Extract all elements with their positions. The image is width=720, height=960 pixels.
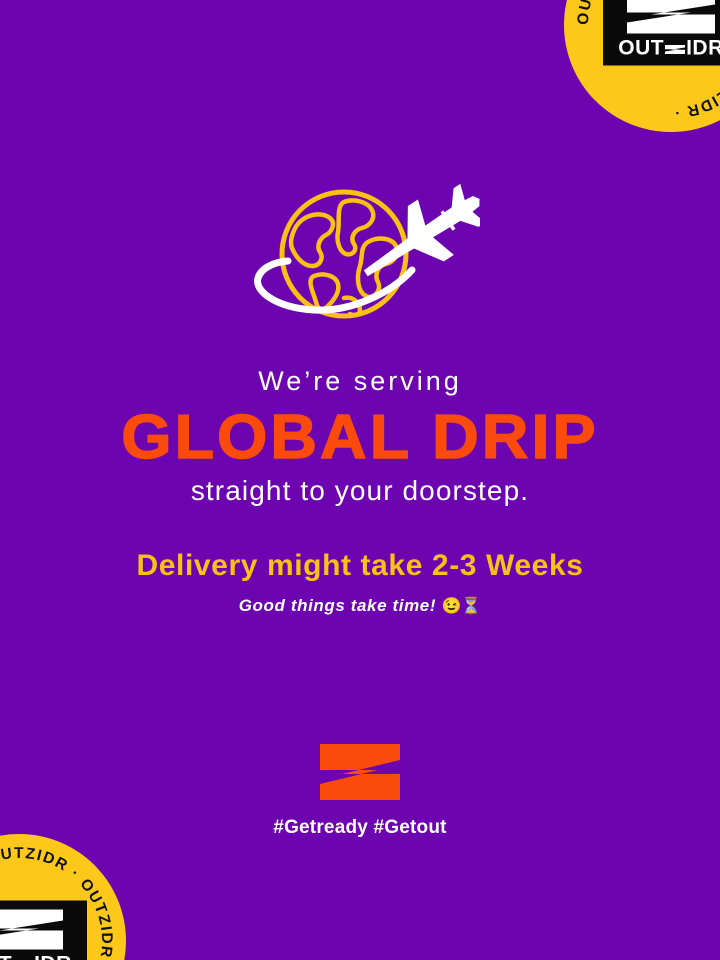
wink-hourglass-emoji: 😉⏳ xyxy=(441,598,481,615)
seal-wordmark-after: IDR xyxy=(34,954,72,960)
hero-artwork xyxy=(0,178,720,338)
headline-block: We’re serving GLOBAL DRIP straight to yo… xyxy=(0,366,720,507)
globe-with-airplane-icon xyxy=(240,178,480,338)
seal-wordmark-top-right: OUT IDR xyxy=(618,38,720,59)
headline-eyebrow: We’re serving xyxy=(0,366,720,397)
delivery-time-text: Delivery might take 2-3 Weeks xyxy=(0,548,720,584)
seal-wordmark-before: OUT xyxy=(618,38,664,59)
brand-tagline: #Getready #Getout xyxy=(273,818,446,839)
seal-wordmark-after: IDR xyxy=(686,38,720,59)
outzidr-z-logo xyxy=(320,744,400,800)
delivery-notice-block: Delivery might take 2-3 Weeks Good thing… xyxy=(0,548,720,616)
outzidr-seal-top-right: OUTZIDR · OUTZIDR · OUTZIDR · OUTZIDR · … xyxy=(564,0,720,132)
poster-canvas: We’re serving GLOBAL DRIP straight to yo… xyxy=(0,0,720,960)
seal-core-top-right: OUT IDR xyxy=(603,0,720,66)
outzidr-seal-bottom-left: OUTZIDR · OUTZIDR · OUTZIDR · OUTZIDR · … xyxy=(0,834,126,960)
delivery-reassurance-label: Good things take time! xyxy=(239,596,436,615)
seal-wordmark-before: OUT xyxy=(0,954,12,960)
outzidr-z-logo xyxy=(0,910,63,950)
headline-subline: straight to your doorstep. xyxy=(0,475,720,507)
seal-wordmark-bottom-left: OUT IDR xyxy=(0,954,72,960)
headline-title: GLOBAL DRIP xyxy=(0,407,720,469)
delivery-reassurance-text: Good things take time! 😉⏳ xyxy=(0,596,720,616)
outzidr-z-logo xyxy=(627,0,715,34)
brand-footer: #Getready #Getout xyxy=(0,744,720,839)
seal-core-bottom-left: OUT IDR xyxy=(0,901,87,960)
outzidr-z-glyph-icon xyxy=(665,41,685,57)
